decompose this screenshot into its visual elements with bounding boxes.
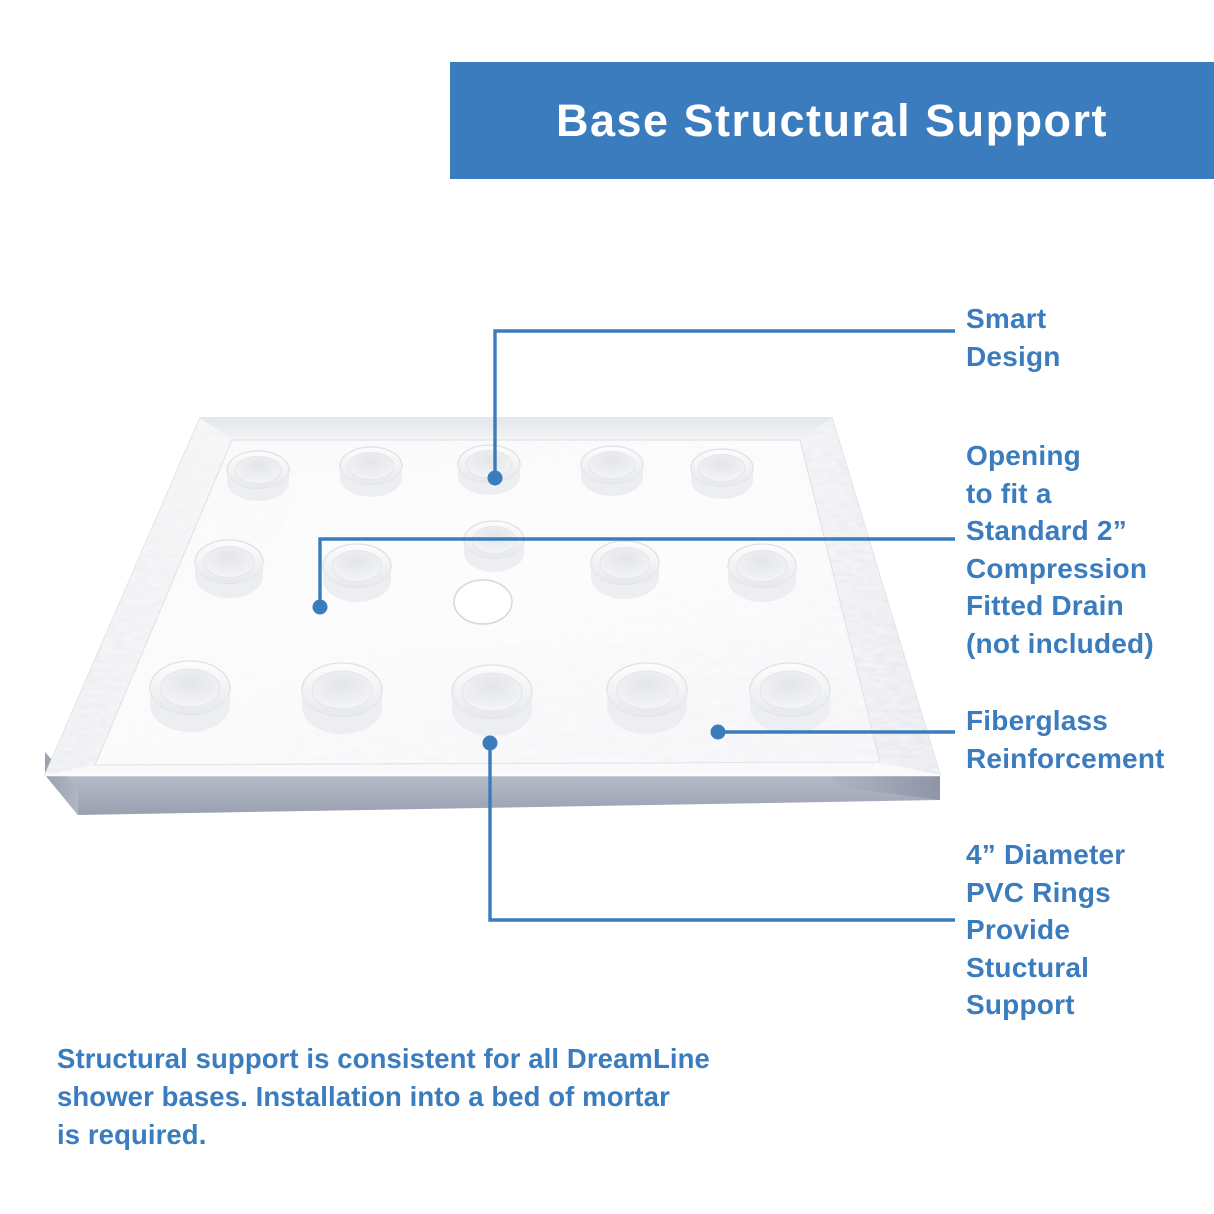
footer-line: shower bases. Installation into a bed of…	[57, 1078, 817, 1116]
pvc-ring	[323, 544, 391, 602]
leader-dot-fiberglass	[711, 725, 726, 740]
leader-line-pvc-rings	[490, 743, 955, 920]
leader-dot-smart-design	[488, 471, 503, 486]
pvc-ring	[302, 663, 382, 734]
callout-fiberglass-reinforcement: Fiberglass Reinforcement	[966, 702, 1214, 777]
callout-line: Fiberglass	[966, 702, 1214, 740]
leader-dot-pvc-rings	[483, 736, 498, 751]
callout-line: Smart	[966, 300, 1214, 338]
shower-base-body	[45, 418, 940, 815]
pvc-ring	[728, 544, 796, 602]
pvc-ring	[150, 661, 230, 732]
pvc-ring	[195, 540, 263, 598]
footer-line: Structural support is consistent for all…	[57, 1040, 817, 1078]
callout-line: Opening	[966, 437, 1214, 475]
base-right-face	[832, 757, 940, 800]
callout-line: Support	[966, 986, 1214, 1024]
drain-opening	[454, 580, 512, 624]
base-top-rim-outline	[45, 418, 940, 775]
leader-lines	[320, 331, 955, 920]
basin-right-wall	[800, 418, 940, 775]
callout-line: Fitted Drain	[966, 587, 1214, 625]
basin-back-wall	[200, 418, 832, 440]
footer-line: is required.	[57, 1116, 817, 1154]
pvc-ring-group	[150, 445, 830, 736]
leader-dots	[313, 471, 726, 751]
pvc-ring	[227, 451, 289, 501]
callout-line: Standard 2”	[966, 512, 1214, 550]
base-top-rim	[45, 418, 940, 775]
basin-left-wall	[45, 418, 232, 775]
page-title: Base Structural Support	[556, 98, 1108, 143]
pvc-ring	[591, 541, 659, 599]
pvc-ring	[750, 663, 830, 734]
base-left-face	[45, 752, 78, 815]
pvc-ring	[464, 521, 524, 572]
leader-line-smart-design	[495, 331, 955, 478]
footer-note: Structural support is consistent for all…	[57, 1040, 817, 1154]
callout-smart-design: Smart Design	[966, 300, 1214, 375]
leader-dot-opening-drain	[313, 600, 328, 615]
callout-line: PVC Rings	[966, 874, 1214, 912]
callout-line: Design	[966, 338, 1214, 376]
callout-pvc-rings: 4” Diameter PVC Rings Provide Stuctural …	[966, 836, 1214, 1024]
floor-highlight	[250, 470, 800, 650]
pvc-ring	[581, 446, 643, 496]
pvc-ring	[691, 449, 753, 499]
pvc-ring	[607, 663, 687, 734]
callout-line: Provide	[966, 911, 1214, 949]
callout-line: Reinforcement	[966, 740, 1214, 778]
pvc-ring	[340, 447, 402, 497]
header-banner: Base Structural Support	[450, 62, 1214, 179]
callout-opening-drain: Opening to fit a Standard 2” Compression…	[966, 437, 1214, 662]
callout-line: Stuctural	[966, 949, 1214, 987]
callout-line: to fit a	[966, 475, 1214, 513]
basin-floor	[95, 440, 880, 765]
callout-line: 4” Diameter	[966, 836, 1214, 874]
pvc-ring	[452, 665, 532, 736]
base-front-face	[45, 775, 940, 815]
basin-floor-outline	[95, 440, 880, 765]
leader-line-opening-drain	[320, 539, 955, 607]
callout-line: Compression	[966, 550, 1214, 588]
pvc-ring	[458, 445, 520, 495]
callout-line: (not included)	[966, 625, 1214, 663]
